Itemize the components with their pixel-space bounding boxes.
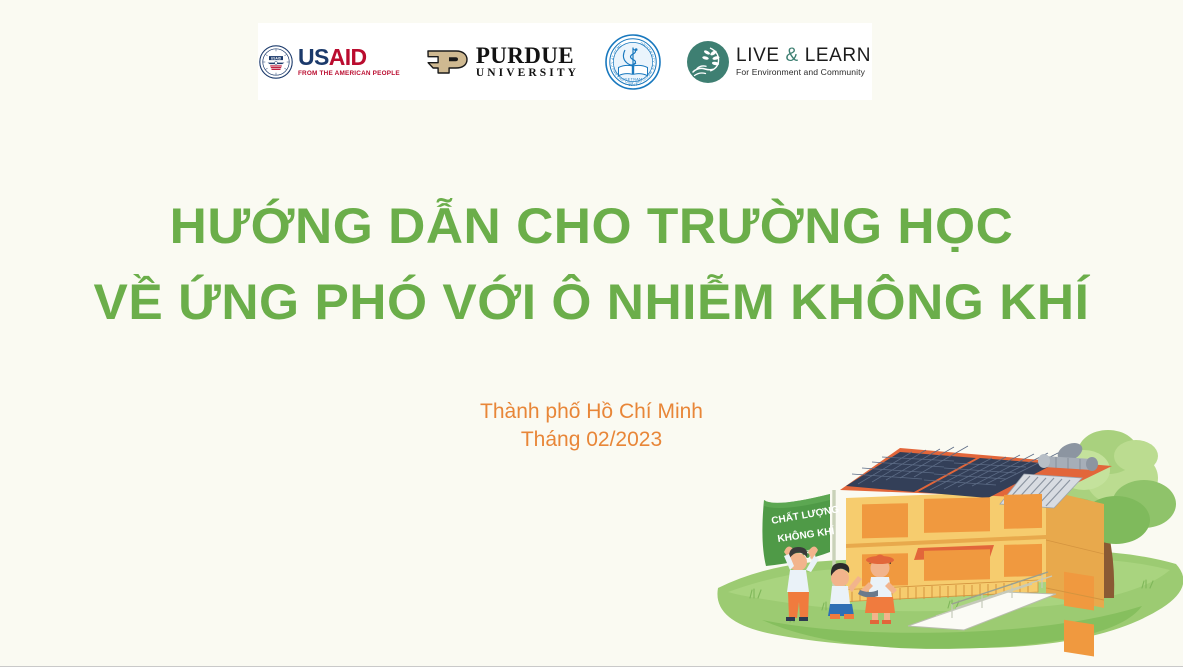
purdue-subtitle: UNIVERSITY xyxy=(476,68,579,80)
usaid-tagline: FROM THE AMERICAN PEOPLE xyxy=(298,71,400,77)
live-and-learn-leaf-hand-icon xyxy=(687,41,729,83)
partner-logo-band: USAID USAID FROM THE AMERICAN PEOPLE xyxy=(258,23,872,100)
purdue-p-mark-icon xyxy=(426,47,470,77)
presentation-slide: USAID USAID FROM THE AMERICAN PEOPLE xyxy=(0,0,1183,667)
purdue-wordmark: PURDUE UNIVERSITY xyxy=(476,44,579,80)
svg-text:* 1947 *: * 1947 * xyxy=(625,83,641,87)
usaid-logo: USAID USAID FROM THE AMERICAN PEOPLE xyxy=(259,45,400,79)
title-line-2: VỀ ỨNG PHÓ VỚI Ô NHIỄM KHÔNG KHÍ xyxy=(0,264,1183,340)
svg-text:USAID: USAID xyxy=(271,56,282,60)
title-line-1: HƯỚNG DẪN CHO TRƯỜNG HỌC xyxy=(0,188,1183,264)
svg-text:VIETNAM: VIETNAM xyxy=(624,77,643,81)
slide-title: HƯỚNG DẪN CHO TRƯỜNG HỌC VỀ ỨNG PHÓ VỚI … xyxy=(0,188,1183,340)
live-and-learn-logo: LIVE & LEARN For Environment and Communi… xyxy=(687,41,871,83)
purdue-logo: PURDUE UNIVERSITY xyxy=(426,44,579,80)
ump-seal-icon: UNIVERSITY OF MEDICINE AND PHARMACY AT H… xyxy=(605,34,661,90)
live-and-learn-wordmark: LIVE & LEARN For Environment and Communi… xyxy=(736,46,871,77)
usaid-seal-icon: USAID xyxy=(259,45,293,79)
usaid-wordmark: USAID FROM THE AMERICAN PEOPLE xyxy=(298,46,400,77)
usaid-word-us: US xyxy=(298,44,329,70)
ll-tagline: For Environment and Community xyxy=(736,68,871,77)
ump-hcmc-logo: UNIVERSITY OF MEDICINE AND PHARMACY AT H… xyxy=(605,34,661,90)
ll-word-learn: LEARN xyxy=(805,45,871,66)
usaid-word-aid: AID xyxy=(329,44,367,70)
purdue-name: PURDUE xyxy=(476,44,579,67)
children-group xyxy=(784,546,897,624)
ll-word-live: LIVE xyxy=(736,45,780,66)
school-illustration: CHẤT LƯỢNG KHÔNG KHÍ TỐT xyxy=(712,412,1183,660)
ll-word-amp: & xyxy=(786,45,799,66)
